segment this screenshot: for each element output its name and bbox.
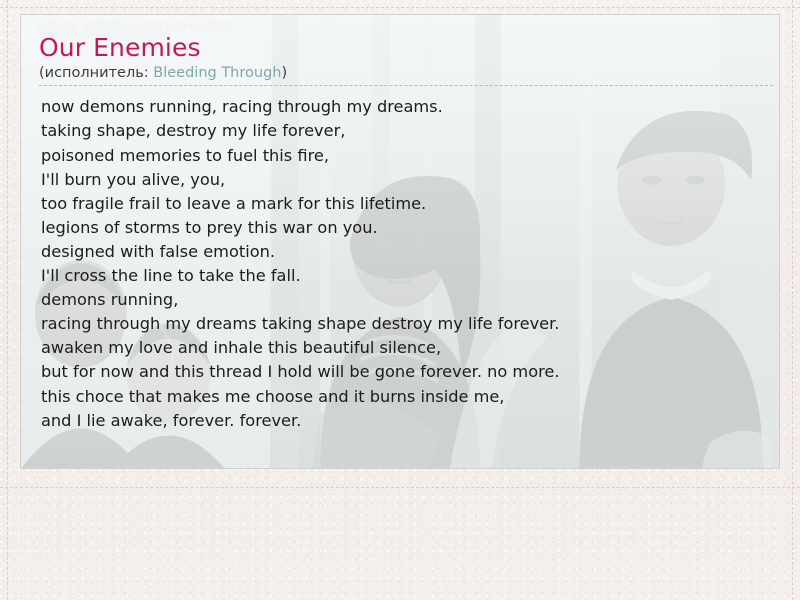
artist-suffix-label: ) [281, 65, 287, 81]
lyric-line: demons running, [41, 288, 761, 312]
lyric-line: poisoned memories to fuel this fire, [41, 144, 761, 168]
lyric-line: this choce that makes me choose and it b… [41, 385, 761, 409]
slide-page-background: CRAIG BURTON PHOTOGRAPHY WWW.CRAIGBURTON… [0, 0, 800, 600]
title-divider [39, 85, 773, 86]
lyric-line: taking shape, destroy my life forever, [41, 119, 761, 143]
lyric-line: designed with false emotion. [41, 240, 761, 264]
lyrics-block: now demons running, racing through my dr… [41, 95, 761, 432]
guide-line-right [792, 0, 793, 600]
lyric-line: too fragile frail to leave a mark for th… [41, 192, 761, 216]
artist-link[interactable]: Bleeding Through [153, 65, 281, 81]
page-title: Our Enemies [39, 35, 761, 61]
lyric-line: legions of storms to prey this war on yo… [41, 216, 761, 240]
artist-line: (исполнитель: Bleeding Through) [39, 64, 761, 82]
guide-line-top [0, 7, 800, 8]
guide-line-middle [0, 487, 800, 488]
lyric-line: I'll cross the line to take the fall. [41, 264, 761, 288]
lyric-line: awaken my love and inhale this beautiful… [41, 336, 761, 360]
lyric-line: I'll burn you alive, you, [41, 168, 761, 192]
slide-content: Our Enemies (исполнитель: Bleeding Throu… [21, 15, 779, 433]
slide-card: CRAIG BURTON PHOTOGRAPHY WWW.CRAIGBURTON… [20, 14, 780, 469]
lyric-line: but for now and this thread I hold will … [41, 360, 761, 384]
lyric-line: and I lie awake, forever. forever. [41, 409, 761, 433]
artist-prefix-label: (исполнитель: [39, 65, 153, 81]
lyric-line: racing through my dreams taking shape de… [41, 312, 761, 336]
lyric-line: now demons running, racing through my dr… [41, 95, 761, 119]
guide-line-left [7, 0, 8, 600]
